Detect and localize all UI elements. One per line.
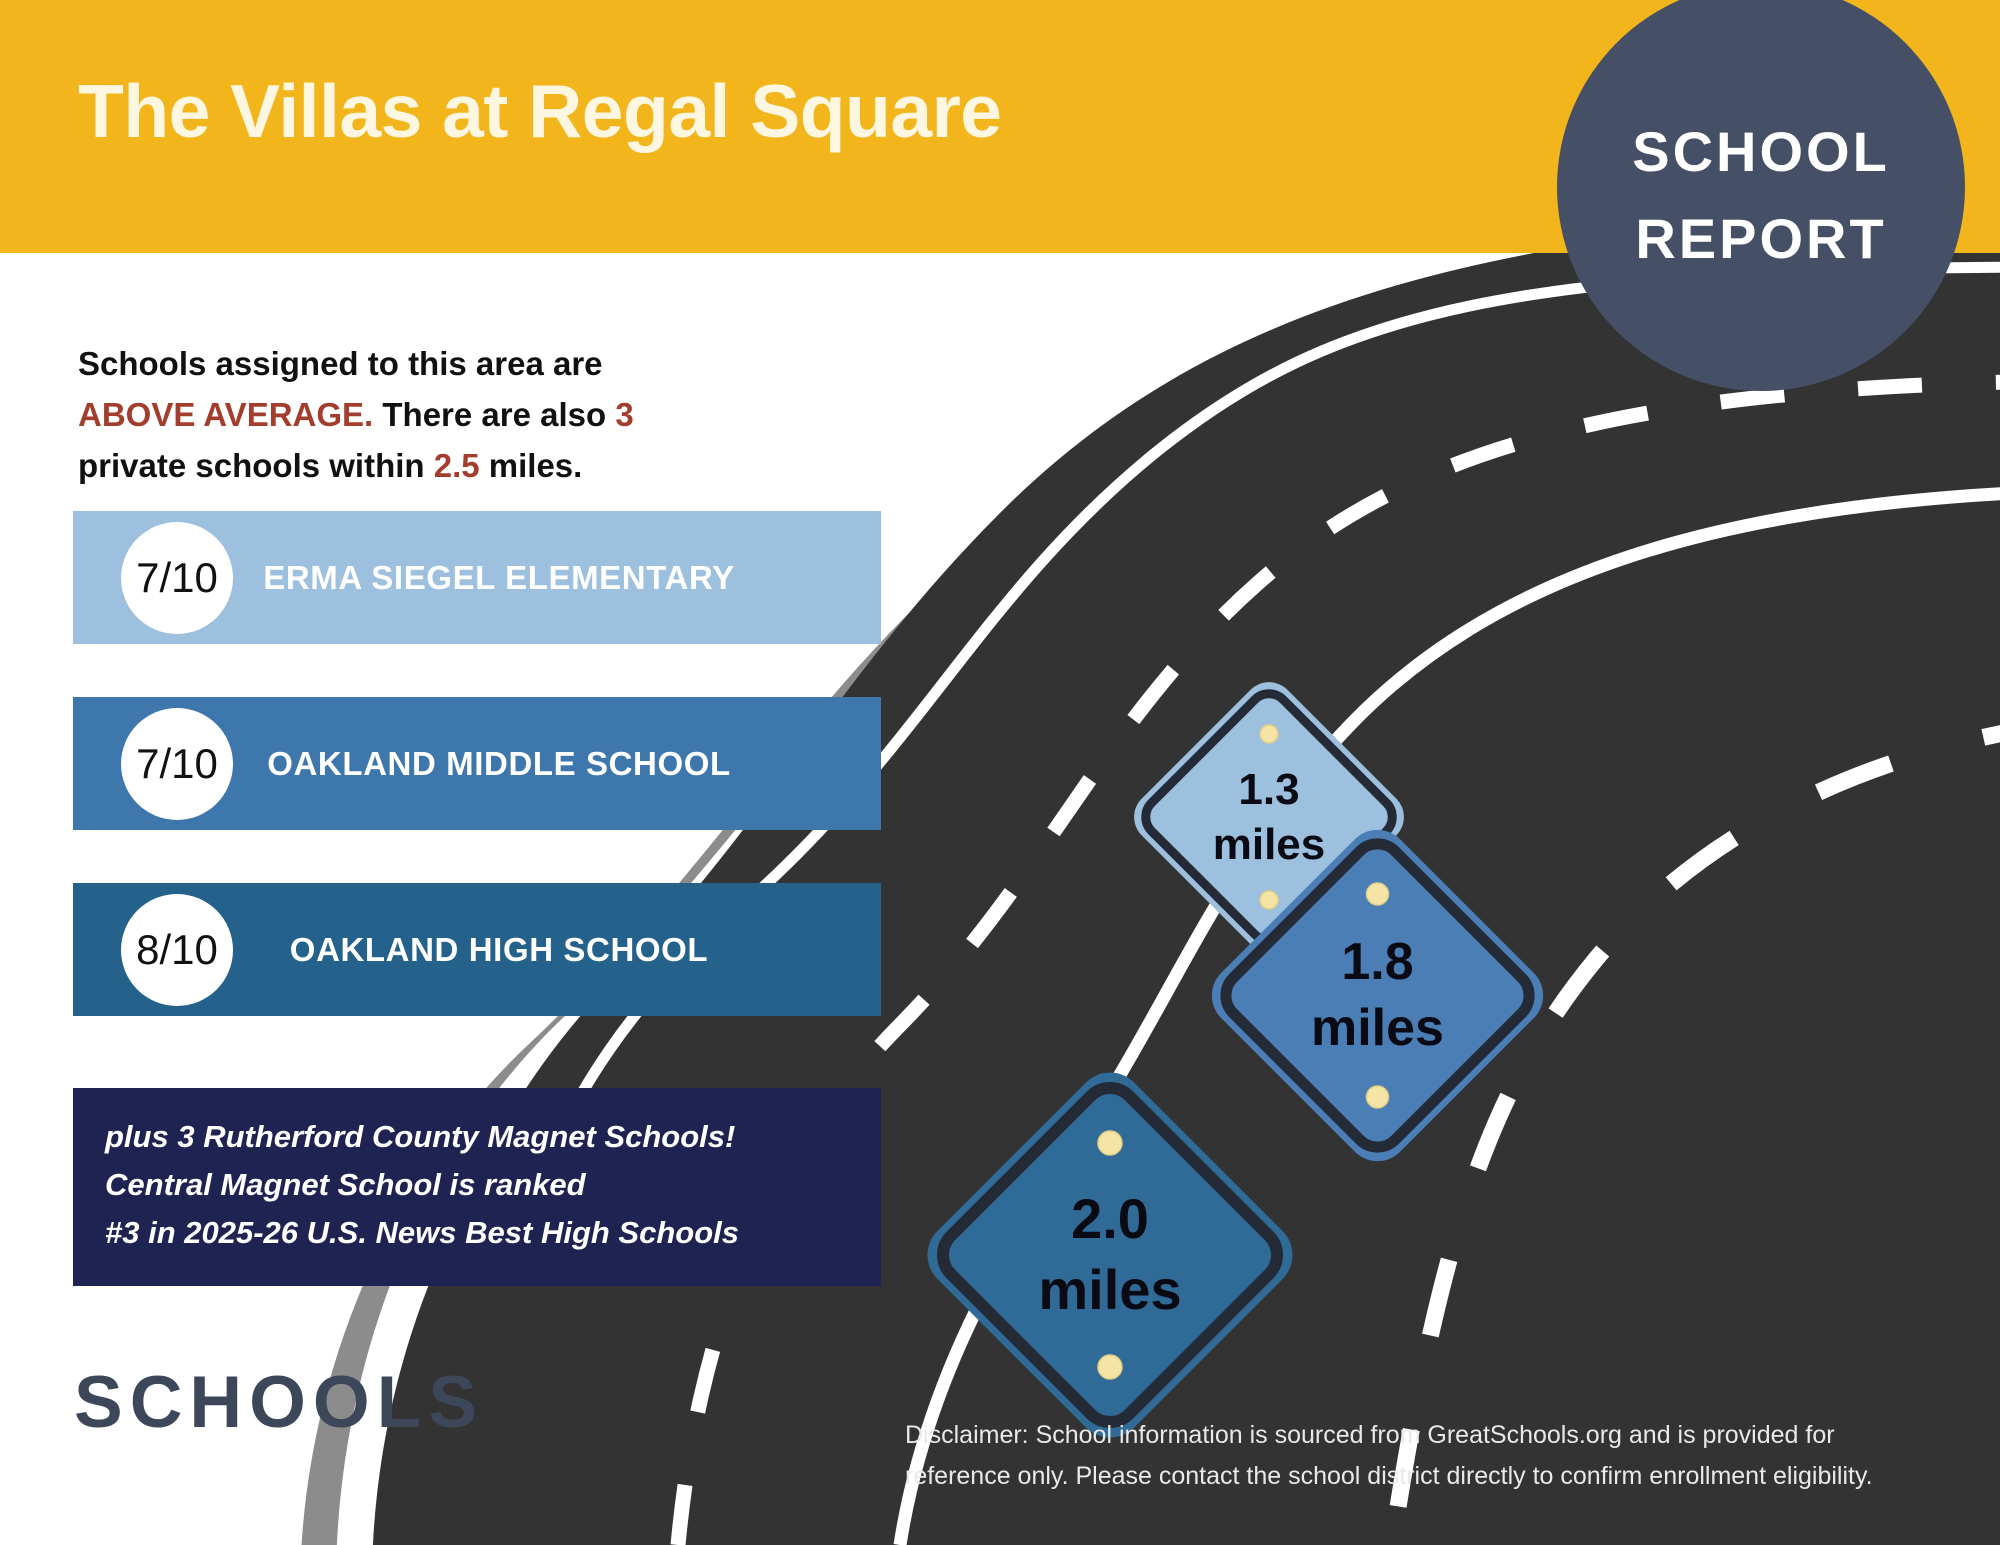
school-rating-list: 7/10 ERMA SIEGEL ELEMENTARY 7/10 OAKLAND… bbox=[73, 511, 883, 1069]
magnet-schools-callout: plus 3 Rutherford County Magnet Schools!… bbox=[73, 1088, 881, 1286]
magnet-line-3: #3 in 2025-26 U.S. News Best High School… bbox=[105, 1209, 881, 1257]
intro-accent-count: 3 bbox=[615, 396, 633, 433]
intro-paragraph: Schools assigned to this area are ABOVE … bbox=[78, 338, 778, 491]
diamond-sign-shape bbox=[915, 1060, 1305, 1450]
sign-rivet-top-icon bbox=[1098, 1131, 1122, 1155]
school-bar-row[interactable]: 7/10 OAKLAND MIDDLE SCHOOL bbox=[73, 697, 881, 830]
sign-rivet-top-icon bbox=[1367, 883, 1389, 905]
left-content-column: Schools assigned to this area are ABOVE … bbox=[0, 253, 900, 1545]
sign-outer-plate bbox=[913, 1058, 1306, 1451]
intro-line-3-post: miles. bbox=[480, 447, 583, 484]
disclaimer-text: Disclaimer: School information is source… bbox=[905, 1415, 1980, 1496]
disclaimer-line-2: reference only. Please contact the schoo… bbox=[905, 1456, 1980, 1497]
badge-line-1: SCHOOL bbox=[1632, 109, 1890, 196]
school-score-badge: 7/10 bbox=[121, 708, 233, 820]
school-bar-row[interactable]: 8/10 OAKLAND HIGH SCHOOL bbox=[73, 883, 881, 1016]
sign-rivet-top-icon bbox=[1260, 725, 1278, 743]
intro-accent-distance: 2.5 bbox=[434, 447, 480, 484]
school-report-badge: SCHOOL REPORT bbox=[1557, 0, 1965, 391]
intro-line-3-pre: private schools within bbox=[78, 447, 434, 484]
intro-accent-above-average: ABOVE AVERAGE. bbox=[78, 396, 373, 433]
magnet-line-2: Central Magnet School is ranked bbox=[105, 1161, 881, 1209]
section-label-schools: SCHOOLS bbox=[74, 1361, 484, 1444]
sign-rivet-bottom-icon bbox=[1367, 1086, 1389, 1108]
magnet-line-1: plus 3 Rutherford County Magnet Schools! bbox=[105, 1113, 881, 1161]
badge-line-2: REPORT bbox=[1635, 196, 1886, 283]
disclaimer-line-1: Disclaimer: School information is source… bbox=[905, 1415, 1980, 1456]
school-score-badge: 8/10 bbox=[121, 894, 233, 1006]
distance-sign-3[interactable]: 2.0 miles bbox=[915, 1060, 1305, 1450]
page-title: The Villas at Regal Square bbox=[78, 68, 1001, 154]
intro-line-2-mid: There are also bbox=[373, 396, 615, 433]
school-bar-row[interactable]: 7/10 ERMA SIEGEL ELEMENTARY bbox=[73, 511, 881, 644]
school-score-badge: 7/10 bbox=[121, 522, 233, 634]
intro-line-1: Schools assigned to this area are bbox=[78, 345, 603, 382]
sign-rivet-bottom-icon bbox=[1098, 1355, 1122, 1379]
